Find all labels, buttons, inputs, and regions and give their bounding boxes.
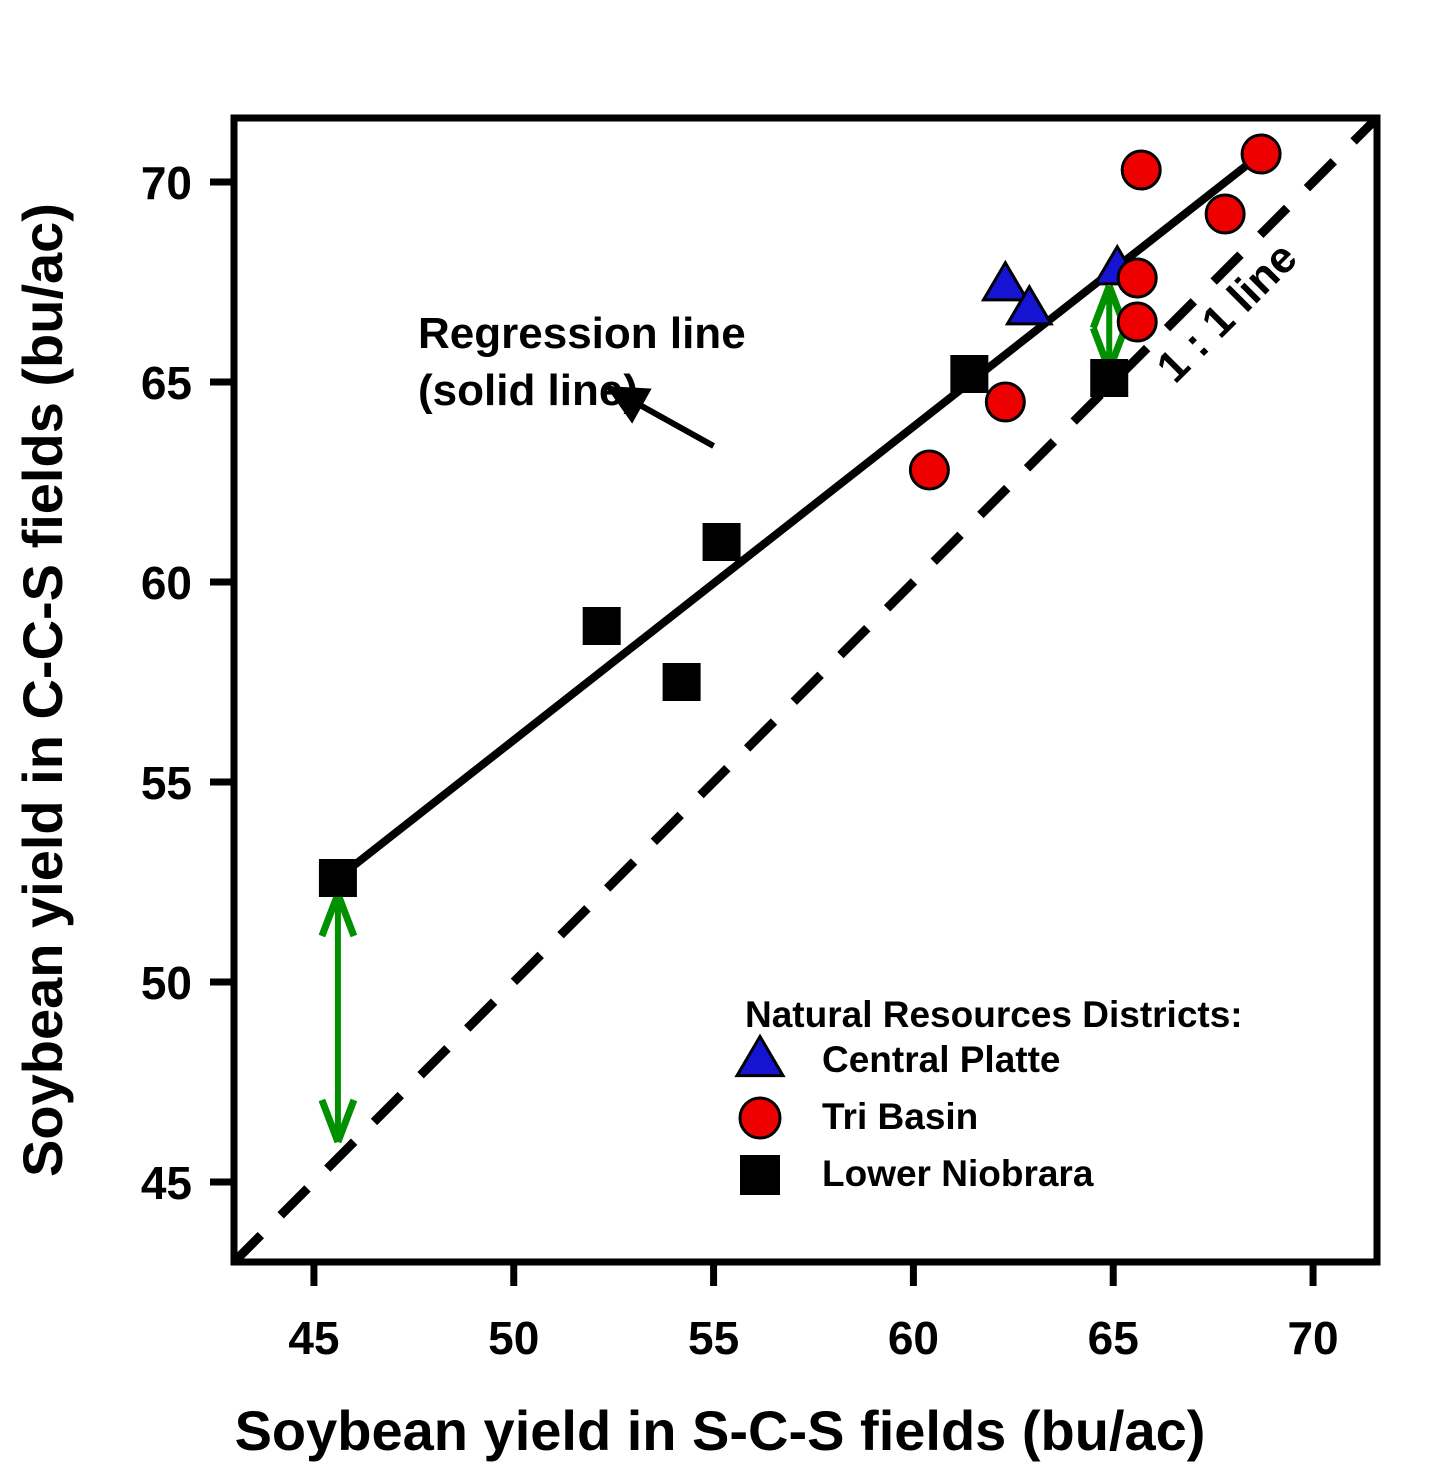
x-tick-label-65: 65: [1088, 1312, 1139, 1364]
data-point-circle-5: [1206, 195, 1244, 233]
y-tick-label-65: 65: [141, 357, 192, 409]
data-point-circle-4: [1122, 151, 1160, 189]
x-tick-label-45: 45: [288, 1312, 339, 1364]
legend-label-1: Tri Basin: [822, 1096, 978, 1137]
x-tick-label-70: 70: [1287, 1312, 1338, 1364]
data-point-square-3: [703, 523, 741, 561]
x-tick-label-60: 60: [888, 1312, 939, 1364]
scatter-chart-figure: 455055606570 455055606570 Regression lin…: [0, 0, 1440, 1484]
data-point-circle-2: [1118, 303, 1156, 341]
y-tick-label-55: 55: [141, 757, 192, 809]
data-point-square-2: [663, 663, 701, 701]
data-point-circle-0: [910, 451, 948, 489]
y-axis-title: Soybean yield in C-C-S fields (bu/ac): [11, 203, 74, 1177]
x-tick-label-55: 55: [688, 1312, 739, 1364]
x-axis-title: Soybean yield in S-C-S fields (bu/ac): [235, 1399, 1206, 1462]
legend-label-0: Central Platte: [822, 1039, 1061, 1080]
data-point-square-0: [319, 859, 357, 897]
y-tick-label-60: 60: [141, 557, 192, 609]
legend-marker-square-icon: [740, 1155, 780, 1195]
legend-label-2: Lower Niobrara: [822, 1153, 1094, 1194]
data-point-square-4: [950, 355, 988, 393]
chart-canvas: 455055606570 455055606570 Regression lin…: [0, 0, 1440, 1484]
y-tick-label-70: 70: [141, 157, 192, 209]
data-point-circle-3: [1118, 259, 1156, 297]
regression-annotation-line2: (solid line): [418, 366, 638, 415]
y-tick-label-50: 50: [141, 957, 192, 1009]
data-point-square-5: [1090, 359, 1128, 397]
regression-annotation-line1: Regression line: [418, 309, 746, 358]
data-point-circle-6: [1242, 135, 1280, 173]
data-point-square-1: [583, 607, 621, 645]
y-tick-label-45: 45: [141, 1157, 192, 1209]
data-point-circle-1: [986, 383, 1024, 421]
x-tick-label-50: 50: [488, 1312, 539, 1364]
legend-title: Natural Resources Districts:: [745, 994, 1243, 1035]
legend-marker-circle-icon: [740, 1098, 780, 1138]
